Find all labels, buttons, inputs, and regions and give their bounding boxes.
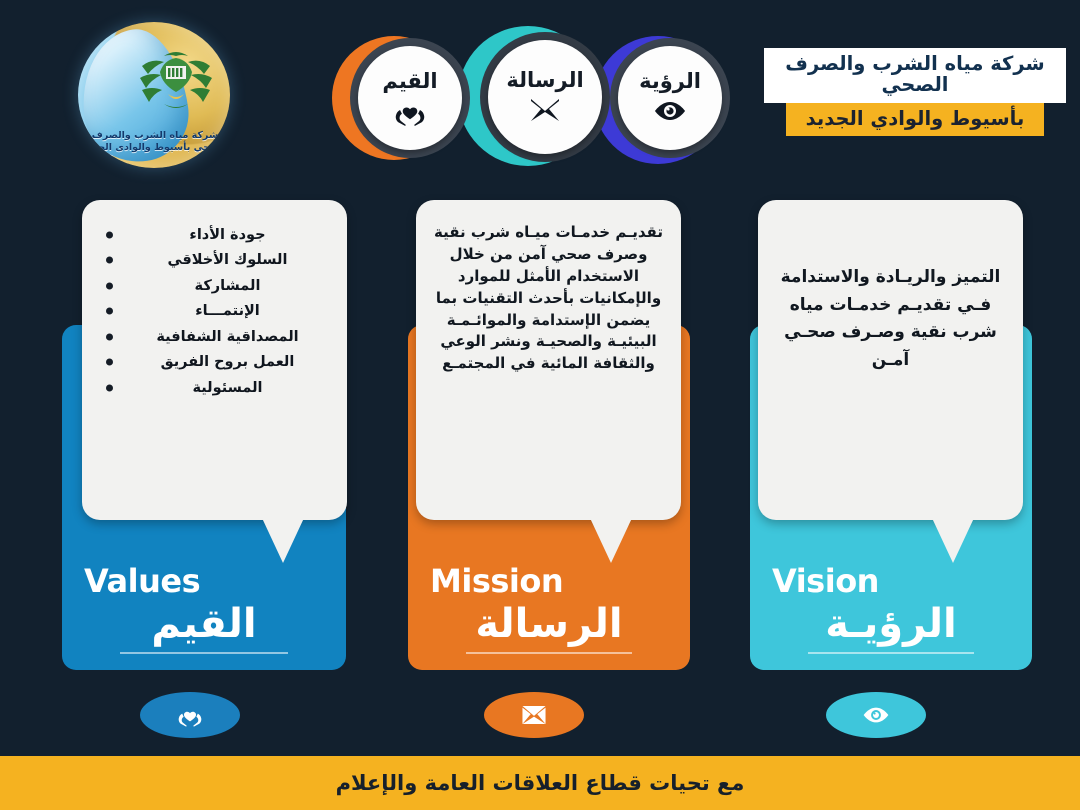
- card-mission-underline: [466, 652, 633, 655]
- list-item-label: المصداقية الشفافية: [156, 329, 298, 345]
- company-logo: شركة مياه الشرب والصرف الصحي بأسيوط والو…: [78, 22, 240, 174]
- list-item: الإنتمـــاء: [98, 299, 331, 325]
- card-vision-footer: Vision الرؤيـة: [750, 565, 1032, 670]
- bullet-dot-icon: [106, 282, 113, 289]
- list-item-label: جودة الأداء: [189, 227, 265, 243]
- eye-icon: [653, 96, 687, 126]
- list-item-label: الإنتمـــاء: [195, 303, 260, 319]
- list-item-label: المسئولية: [192, 380, 262, 396]
- footer-bar: مع تحيات قطاع العلاقات العامة والإعلام: [0, 756, 1080, 810]
- bullet-dot-icon: [106, 384, 113, 391]
- card-vision-underline: [808, 652, 975, 655]
- list-item: المسئولية: [98, 375, 331, 401]
- card-vision[interactable]: Vision الرؤيـة التميز والريـادة والاستدا…: [746, 200, 1036, 670]
- circle-values-label: القيم: [382, 71, 437, 92]
- card-mission-text: تقديـم خدمـات ميـاه شرب نقية وصرف صحي آم…: [432, 222, 665, 375]
- list-item-label: العمل بروح الفريق: [161, 354, 295, 370]
- card-vision-bubble: التميز والريـادة والاستدامة فـي تقديـم خ…: [758, 200, 1023, 520]
- list-item: المصداقية الشفافية: [98, 324, 331, 350]
- circle-mission[interactable]: الرسالة: [488, 40, 602, 154]
- bullet-dot-icon: [106, 231, 113, 238]
- bullet-dot-icon: [106, 333, 113, 340]
- card-mission-bubble: تقديـم خدمـات ميـاه شرب نقية وصرف صحي آم…: [416, 200, 681, 520]
- eye-icon: [862, 702, 890, 728]
- list-item: العمل بروح الفريق: [98, 350, 331, 376]
- circle-mission-label: الرسالة: [506, 70, 583, 91]
- envelope-icon: [520, 702, 548, 728]
- card-mission-arabic-label: الرسالة: [430, 603, 668, 646]
- eagle-crest-icon: [134, 40, 218, 120]
- list-item: السلوك الأخلاقي: [98, 248, 331, 274]
- list-item-label: المشاركة: [195, 278, 261, 294]
- header-title-block: شركة مياه الشرب والصرف الصحي بأسيوط والو…: [764, 48, 1066, 136]
- list-item-label: السلوك الأخلاقي: [168, 252, 288, 268]
- card-values-english-label: Values: [84, 565, 324, 597]
- bullet-dot-icon: [106, 257, 113, 264]
- card-values-footer: Values القيم: [62, 565, 346, 670]
- hands-heart-icon: [393, 96, 427, 126]
- card-mission-english-label: Mission: [430, 565, 668, 597]
- card-mission-footer: Mission الرسالة: [408, 565, 690, 670]
- company-name-line2: بأسيوط والوادي الجديد: [786, 103, 1044, 136]
- envelope-icon: [528, 95, 562, 125]
- circle-vision-label: الرؤية: [639, 71, 701, 92]
- oval-vision[interactable]: [826, 692, 926, 738]
- bullet-dot-icon: [106, 308, 113, 315]
- oval-mission[interactable]: [484, 692, 584, 738]
- circle-values[interactable]: القيم: [358, 46, 462, 150]
- card-values-arabic-label: القيم: [84, 603, 324, 646]
- values-list: جودة الأداء السلوك الأخلاقي المشاركة الإ…: [98, 222, 331, 401]
- card-vision-text: التميز والريـادة والاستدامة فـي تقديـم خ…: [774, 222, 1007, 374]
- card-values[interactable]: Values القيم جودة الأداء السلوك الأخلاقي…: [62, 200, 352, 670]
- list-item: المشاركة: [98, 273, 331, 299]
- card-values-underline: [120, 652, 288, 655]
- oval-values[interactable]: [140, 692, 240, 738]
- card-vision-english-label: Vision: [772, 565, 1010, 597]
- card-vision-bubble-tail: [932, 518, 974, 563]
- card-vision-arabic-label: الرؤيـة: [772, 603, 1010, 646]
- list-item: جودة الأداء: [98, 222, 331, 248]
- hands-heart-icon: [176, 702, 204, 728]
- logo-disc: شركة مياه الشرب والصرف الصحي بأسيوط والو…: [78, 22, 230, 168]
- logo-caption: شركة مياه الشرب والصرف الصحي بأسيوط والو…: [78, 130, 230, 154]
- card-mission[interactable]: Mission الرسالة تقديـم خدمـات ميـاه شرب …: [404, 200, 694, 670]
- card-values-bubble-tail: [262, 518, 304, 563]
- circle-vision[interactable]: الرؤية: [618, 46, 722, 150]
- header-circles: القيم الرسالة الرؤية: [332, 20, 724, 172]
- company-name-line1: شركة مياه الشرب والصرف الصحي: [764, 48, 1066, 103]
- card-mission-bubble-tail: [590, 518, 632, 563]
- footer-text: مع تحيات قطاع العلاقات العامة والإعلام: [336, 771, 745, 795]
- bullet-dot-icon: [106, 359, 113, 366]
- card-values-bubble: جودة الأداء السلوك الأخلاقي المشاركة الإ…: [82, 200, 347, 520]
- header: شركة مياه الشرب والصرف الصحي بأسيوط والو…: [0, 0, 1080, 185]
